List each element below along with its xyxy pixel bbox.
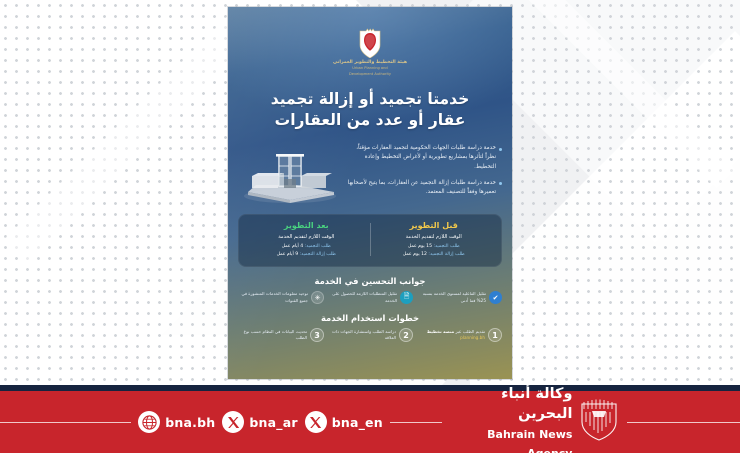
before-row-unfreeze-value: 12 يوم عمل <box>403 252 427 257</box>
authority-name-english-line2: Development Authority <box>349 72 391 77</box>
step-text-3: تحديث البيانات في النظام حسب نوع الطلب <box>238 329 307 342</box>
document-icon: 🗎 <box>400 291 413 304</box>
bna-name-english: Bahrain News Agency <box>487 428 572 453</box>
social-label-x-arabic: bna_ar <box>249 415 297 430</box>
list-item: ✔ تقليل الفاعلية لمستوى الخدمة بنسبة 25%… <box>416 291 502 304</box>
social-link-website[interactable]: bna.bh <box>138 411 215 433</box>
after-row-freeze-value: 4 أيام عمل <box>282 244 304 249</box>
list-item: 3 تحديث البيانات في النظام حسب نوع الطلب <box>238 328 324 342</box>
list-item: 2 دراسة الطلب واستشارة الجهات ذات العلاق… <box>327 328 413 342</box>
social-link-x-english[interactable]: bna_en <box>305 411 383 433</box>
step-text-1: تقديم الطلب عبر منصة تخطيط planning.bh <box>427 329 485 342</box>
bullet-dot-icon <box>499 148 502 151</box>
after-row-unfreeze: طلب إزالة التجميد: 9 أيام عمل <box>247 251 366 258</box>
steps-list: 1 تقديم الطلب عبر منصة تخطيط planning.bh… <box>238 328 502 342</box>
social-label-x-english: bna_en <box>332 415 383 430</box>
step-number-1: 1 <box>488 328 502 342</box>
before-row-unfreeze-label: طلب إزالة التجميد: <box>428 252 464 257</box>
after-row-freeze: طلب التجميد: 4 أيام عمل <box>247 243 366 250</box>
poster-headline: خدمتا تجميد أو إزالة تجميد عقار أو عدد م… <box>238 89 502 132</box>
check-badge-icon: ✔ <box>489 291 502 304</box>
authority-name-english-line1: Urban Planning and <box>352 66 387 71</box>
bullet-text: خدمة دراسة طلبات الجهات الحكومية لتجميد … <box>346 144 496 171</box>
bahrain-news-agency-shield-icon <box>578 398 620 446</box>
before-development-column: قبل التطوير الوقت اللازم لتقديم الخدمة ط… <box>375 221 494 258</box>
infographic-poster: هيئة التخطيط والتطوير العمراني Urban Pla… <box>228 7 512 379</box>
before-subtitle: الوقت اللازم لتقديم الخدمة <box>375 234 494 240</box>
list-item: خدمة دراسة طلبات الجهات الحكومية لتجميد … <box>346 144 502 171</box>
bahrain-shield-emblem-icon <box>357 28 383 58</box>
before-row-freeze-value: 15 يوم عمل <box>408 244 432 249</box>
x-twitter-icon <box>305 411 327 433</box>
building-illustration-icon <box>238 146 342 208</box>
bullet-dot-icon <box>499 182 502 185</box>
before-row-freeze: طلب التجميد: 15 يوم عمل <box>375 243 494 250</box>
list-item: خدمة دراسة طلبات إزالة التجميد عن العقار… <box>346 179 502 197</box>
bna-footer-banner: bna.bh bna_ar bna_en وكالة أنباء البحرين <box>0 385 740 453</box>
improvement-text: تقليل المتطلبات اللازمة للحصول على الخدم… <box>327 291 397 304</box>
step-text-2: دراسة الطلب واستشارة الجهات ذات العلاقة <box>327 329 396 342</box>
authority-name-arabic: هيئة التخطيط والتطوير العمراني <box>333 60 407 65</box>
banner-rule-left <box>0 422 131 423</box>
before-after-panel: قبل التطوير الوقت اللازم لتقديم الخدمة ط… <box>238 214 502 267</box>
x-twitter-icon <box>222 411 244 433</box>
social-label-website: bna.bh <box>165 415 215 430</box>
after-title: بعد التطوير <box>247 221 366 230</box>
improvement-text: تقليل الفاعلية لمستوى الخدمة بنسبة 25% ف… <box>416 291 486 304</box>
panel-divider <box>370 223 371 256</box>
after-row-unfreeze-value: 9 أيام عمل <box>277 252 299 257</box>
before-title: قبل التطوير <box>375 221 494 230</box>
improvements-title: جوانب التحسين في الخدمة <box>238 276 502 286</box>
step-1-prefix: تقديم الطلب عبر <box>454 329 485 334</box>
before-row-unfreeze: طلب إزالة التجميد: 12 يوم عمل <box>375 251 494 258</box>
steps-title: خطوات استخدام الخدمة <box>238 313 502 323</box>
step-number-3: 3 <box>310 328 324 342</box>
globe-icon <box>138 411 160 433</box>
list-item: ✳ توحيد معلومات الخدمات المنشورة في جميع… <box>238 291 324 304</box>
bna-name-arabic: وكالة أنباء البحرين <box>501 386 572 422</box>
after-row-freeze-label: طلب التجميد: <box>305 244 331 249</box>
banner-rule-middle <box>390 422 443 423</box>
authority-logo: هيئة التخطيط والتطوير العمراني Urban Pla… <box>238 28 502 77</box>
bullet-text: خدمة دراسة طلبات إزالة التجميد عن العقار… <box>346 179 496 197</box>
after-development-column: بعد التطوير الوقت اللازم لتقديم الخدمة ط… <box>247 221 366 258</box>
headline-line-2: عقار أو عدد من العقارات <box>238 110 502 131</box>
network-icon: ✳ <box>311 291 324 304</box>
planning-bh-link[interactable]: planning.bh <box>460 335 485 340</box>
after-subtitle: الوقت اللازم لتقديم الخدمة <box>247 234 366 240</box>
before-row-freeze-label: طلب التجميد: <box>433 244 459 249</box>
step-1-highlight: منصة تخطيط <box>427 329 454 334</box>
list-item: 🗎 تقليل المتطلبات اللازمة للحصول على الخ… <box>327 291 413 304</box>
banner-rule-right <box>627 422 740 423</box>
list-item: 1 تقديم الطلب عبر منصة تخطيط planning.bh <box>416 328 502 342</box>
headline-line-1: خدمتا تجميد أو إزالة تجميد <box>238 89 502 110</box>
improvement-text: توحيد معلومات الخدمات المنشورة في جميع ا… <box>238 291 308 304</box>
bna-logo: وكالة أنباء البحرين Bahrain News Agency <box>449 383 620 453</box>
step-number-2: 2 <box>399 328 413 342</box>
after-row-unfreeze-label: طلب إزالة التجميد: <box>300 252 336 257</box>
social-link-x-arabic[interactable]: bna_ar <box>222 411 297 433</box>
improvements-list: ✔ تقليل الفاعلية لمستوى الخدمة بنسبة 25%… <box>238 291 502 304</box>
service-bullet-list: خدمة دراسة طلبات الجهات الحكومية لتجميد … <box>346 142 502 203</box>
